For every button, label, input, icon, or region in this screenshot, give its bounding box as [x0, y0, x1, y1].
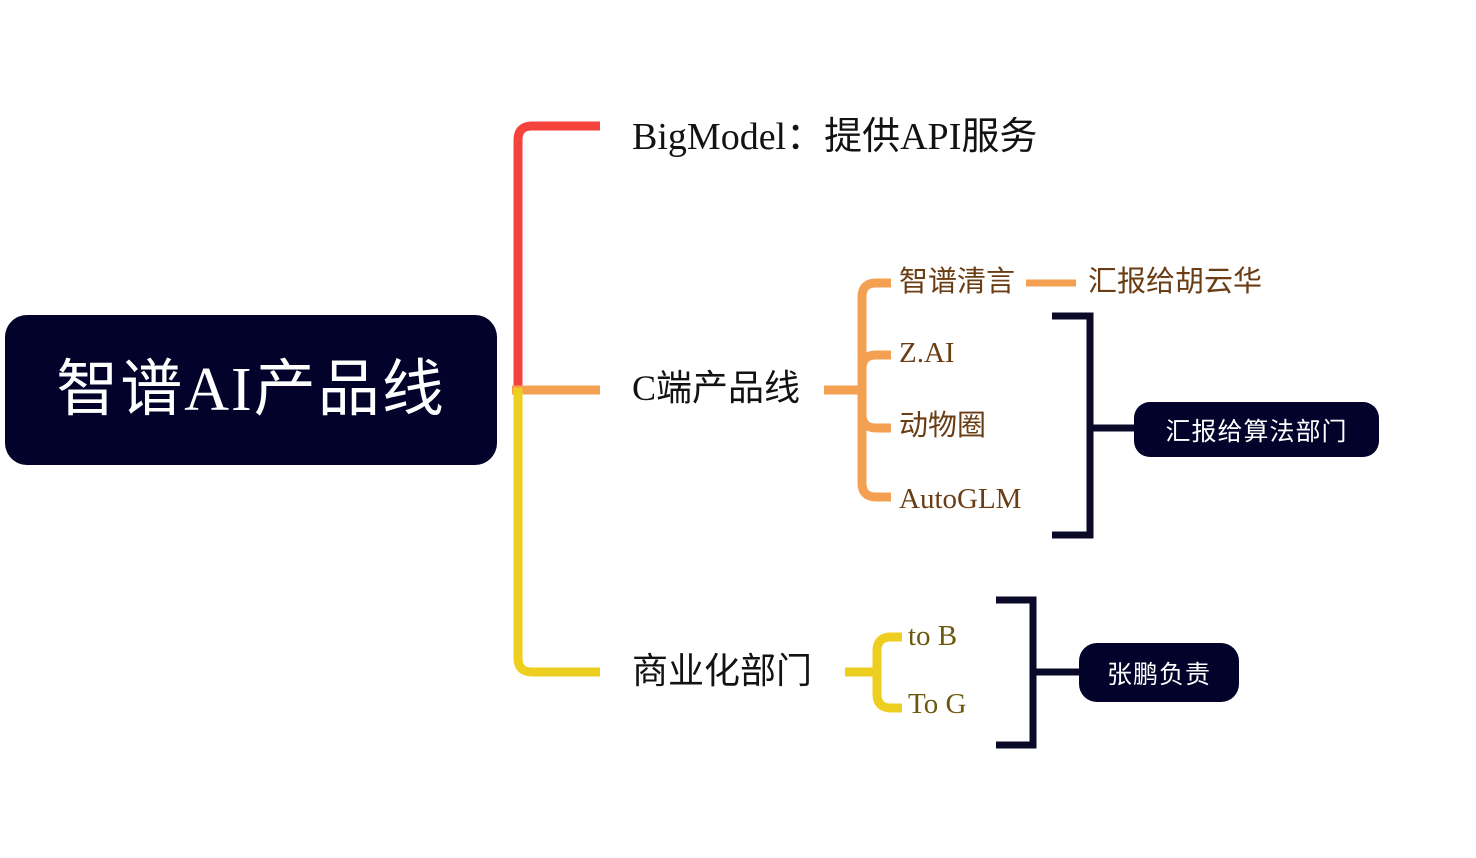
connector-red-bigmodel — [518, 126, 600, 392]
leaf-label-to-b[interactable]: to B — [908, 622, 957, 651]
leaf-label-dongwuquan[interactable]: 动物圈 — [899, 412, 986, 441]
annotation-zhangpeng-owner[interactable]: 张鹏负责 — [1079, 643, 1239, 702]
mindmap-canvas: 智谱AI产品线 BigModel：提供API服务 C端产品线 商业化部门 智谱清… — [0, 0, 1476, 858]
branch-label-bigmodel[interactable]: BigModel：提供API服务 — [632, 118, 1037, 156]
branch-label-commercial-dept[interactable]: 商业化部门 — [632, 653, 812, 689]
root-node[interactable]: 智谱AI产品线 — [5, 315, 497, 465]
bracket-orange-dongwuquan — [862, 390, 891, 428]
leaf-label-qingyan[interactable]: 智谱清言 — [899, 268, 1015, 297]
connector-yellow-commercial — [518, 388, 600, 672]
root-node-label: 智谱AI产品线 — [56, 359, 445, 421]
bracket-yellow-spine — [877, 637, 902, 708]
leaf-label-autoglm[interactable]: AutoGLM — [899, 485, 1021, 514]
annotation-zhangpeng-owner-label: 张鹏负责 — [1107, 655, 1211, 691]
branch-label-c-product-line[interactable]: C端产品线 — [632, 370, 800, 406]
annotation-report-huyunhua[interactable]: 汇报给胡云华 — [1088, 268, 1262, 297]
annotation-report-algo-dept-label: 汇报给算法部门 — [1165, 412, 1347, 448]
bracket-orange-zai — [862, 355, 891, 390]
leaf-label-zai[interactable]: Z.AI — [899, 339, 955, 368]
bracket-orange-spine — [862, 283, 891, 497]
bracket-navy-zhangpeng — [996, 600, 1033, 745]
bracket-navy-algo — [1052, 316, 1090, 535]
leaf-label-to-g[interactable]: To G — [908, 690, 966, 719]
annotation-report-algo-dept[interactable]: 汇报给算法部门 — [1134, 402, 1379, 457]
